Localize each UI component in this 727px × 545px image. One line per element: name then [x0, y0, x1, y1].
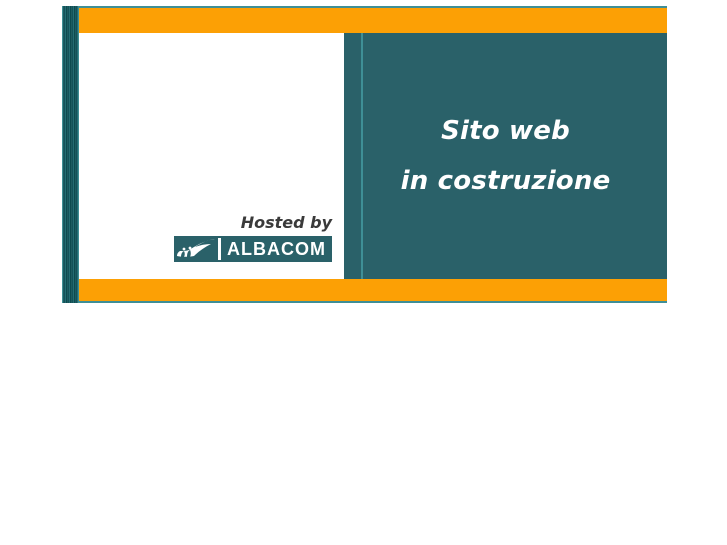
panel-divider — [361, 33, 363, 279]
hosted-by-label: Hosted by — [174, 215, 332, 231]
albacom-swoosh-mark — [174, 236, 218, 262]
left-stripe-rail — [62, 6, 79, 303]
right-teal-panel: Sito web in costruzione — [344, 33, 667, 279]
rail-edge-left — [62, 6, 63, 303]
top-orange-bar — [79, 8, 667, 33]
banner-middle-band: Hosted by ALBACOM — [79, 33, 667, 279]
banner-content: Hosted by ALBACOM — [79, 6, 667, 303]
bottom-orange-bar — [79, 279, 667, 301]
headline-line-2: in costruzione — [401, 168, 611, 194]
albacom-logo[interactable]: ALBACOM — [174, 236, 332, 262]
hosted-by-block: Hosted by ALBACOM — [174, 215, 332, 267]
under-construction-banner: Hosted by ALBACOM — [62, 6, 667, 303]
albacom-wordmark: ALBACOM — [221, 236, 332, 262]
headline-line-1: Sito web — [441, 118, 570, 144]
bottom-hairline — [79, 301, 667, 303]
left-white-panel: Hosted by ALBACOM — [79, 33, 344, 279]
